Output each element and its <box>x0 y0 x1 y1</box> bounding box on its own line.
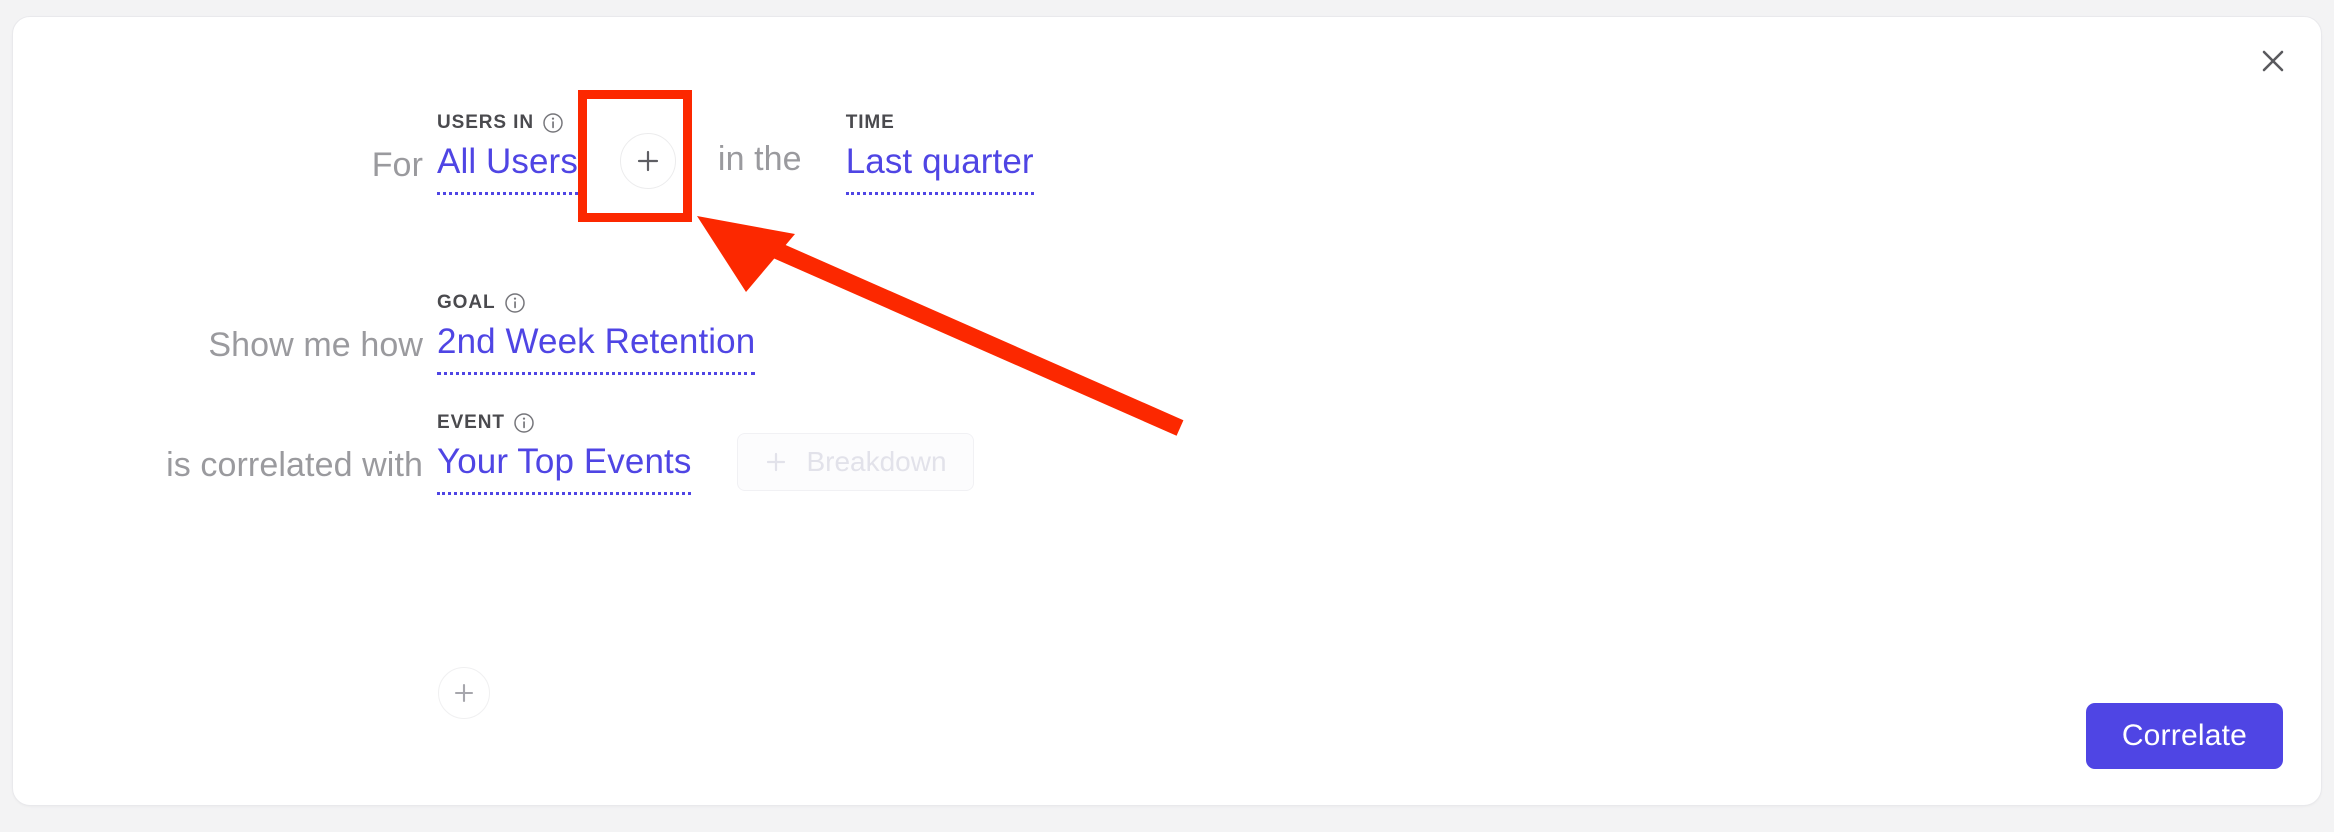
add-breakdown-button[interactable]: Breakdown <box>737 433 973 491</box>
close-icon-glyph <box>2260 48 2286 74</box>
field-label-time: TIME <box>846 112 1034 134</box>
info-icon[interactable] <box>504 292 526 314</box>
connector-show-me-how: Show me how <box>208 326 423 365</box>
query-row-event: is correlated with EVENT Your Top Events <box>13 399 974 495</box>
info-icon[interactable] <box>542 112 564 134</box>
field-label-goal-text: GOAL <box>437 292 496 314</box>
connector-for: For <box>372 146 423 185</box>
correlation-query-card: For USERS IN All Users <box>12 16 2322 806</box>
connector-is-correlated-with: is correlated with <box>166 446 423 485</box>
field-event: EVENT Your Top Events <box>437 412 691 495</box>
correlate-button[interactable]: Correlate <box>2086 703 2283 769</box>
field-time: TIME Last quarter <box>846 112 1034 195</box>
field-goal: GOAL 2nd Week Retention <box>437 292 755 375</box>
lead-word-wrap-3: is correlated with <box>13 399 423 495</box>
field-users-in: USERS IN All Users <box>437 112 578 195</box>
plus-icon <box>764 450 788 474</box>
field-value-time[interactable]: Last quarter <box>846 143 1034 195</box>
field-label-users-in-text: USERS IN <box>437 112 534 134</box>
info-icon[interactable] <box>513 412 535 434</box>
query-row-goal: Show me how GOAL 2nd Week Retention <box>13 279 755 375</box>
lead-word-wrap-1: For <box>13 99 423 195</box>
field-label-users-in: USERS IN <box>437 112 578 134</box>
field-label-time-text: TIME <box>846 112 895 134</box>
field-value-event[interactable]: Your Top Events <box>437 443 691 495</box>
plus-icon <box>635 148 661 174</box>
plus-icon <box>452 681 476 705</box>
close-icon[interactable] <box>2251 39 2295 83</box>
lead-word-wrap-2: Show me how <box>13 279 423 375</box>
query-row-users: For USERS IN All Users <box>13 99 1034 195</box>
field-value-goal[interactable]: 2nd Week Retention <box>437 323 755 375</box>
connector-in-the: in the <box>718 140 802 179</box>
field-label-event-text: EVENT <box>437 412 505 434</box>
field-value-users-in[interactable]: All Users <box>437 143 578 195</box>
add-query-row-button[interactable] <box>438 667 490 719</box>
field-label-event: EVENT <box>437 412 691 434</box>
field-label-goal: GOAL <box>437 292 755 314</box>
add-users-filter-button[interactable] <box>620 133 676 189</box>
screenshot-root: For USERS IN All Users <box>0 0 2334 832</box>
add-breakdown-label: Breakdown <box>806 446 946 478</box>
